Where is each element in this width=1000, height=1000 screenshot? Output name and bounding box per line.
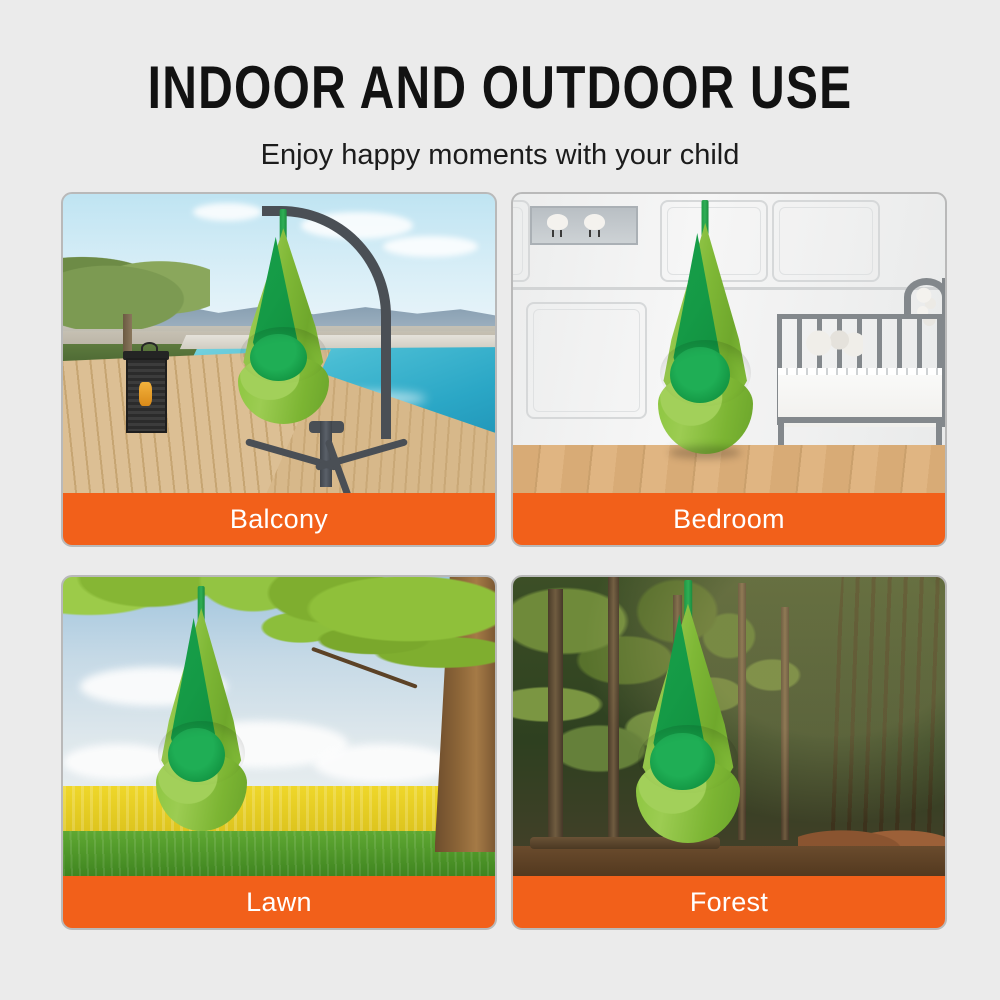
hanging-pod-chair — [634, 580, 742, 843]
bedroom-scene — [513, 194, 945, 493]
use-case-grid: Balcony — [61, 192, 947, 937]
bird-shape — [547, 214, 568, 229]
pod-rim — [158, 721, 245, 785]
lawn-scene — [63, 577, 495, 876]
pod-rim — [660, 340, 751, 406]
balcony-photo — [63, 194, 495, 493]
use-case-card-lawn[interactable]: Lawn — [61, 575, 497, 930]
crib-bottom-rail — [777, 417, 945, 423]
bird-artwork — [530, 206, 638, 245]
forest-scene — [513, 577, 945, 876]
lantern-candle — [139, 382, 152, 406]
wall-panel — [526, 302, 647, 420]
page-title: INDOOR AND OUTDOOR USE — [100, 0, 900, 118]
olive-tree-canopy — [63, 254, 210, 329]
bird-leg — [598, 230, 600, 237]
wall-panel — [772, 200, 880, 282]
hanging-pod-chair — [656, 200, 755, 454]
grass-texture — [63, 831, 495, 876]
hanging-pod-chair — [154, 586, 249, 831]
use-case-card-bedroom[interactable]: Bedroom — [511, 192, 947, 547]
crib-bedding-trim — [778, 368, 945, 375]
lawn-photo — [63, 577, 495, 876]
pod-rim — [638, 725, 737, 793]
hanging-pod-chair — [236, 209, 331, 424]
card-label-balcony: Balcony — [63, 493, 495, 545]
card-label-bedroom: Bedroom — [513, 493, 945, 545]
wall-panel — [513, 200, 530, 282]
use-case-card-balcony[interactable]: Balcony — [61, 192, 497, 547]
bird-shape — [584, 214, 605, 230]
cloud-icon — [383, 236, 478, 257]
tree-canopy — [63, 577, 495, 721]
forest-photo — [513, 577, 945, 876]
card-label-lawn: Lawn — [63, 876, 495, 928]
crib-toys — [804, 326, 863, 357]
cloud-icon — [314, 744, 452, 783]
baby-crib — [777, 278, 945, 451]
bedroom-photo — [513, 194, 945, 493]
bird-leg — [589, 230, 591, 237]
use-case-card-forest[interactable]: Forest — [511, 575, 947, 930]
crib-right-post — [942, 278, 945, 427]
balcony-scene — [63, 194, 495, 493]
field-texture — [63, 786, 495, 834]
bird-leg — [560, 230, 562, 237]
pod-rim — [240, 327, 327, 383]
page-header: INDOOR AND OUTDOOR USE Enjoy happy momen… — [0, 0, 1000, 170]
card-label-forest: Forest — [513, 876, 945, 928]
page-subtitle: Enjoy happy moments with your child — [0, 118, 1000, 170]
bird-leg — [552, 230, 554, 237]
